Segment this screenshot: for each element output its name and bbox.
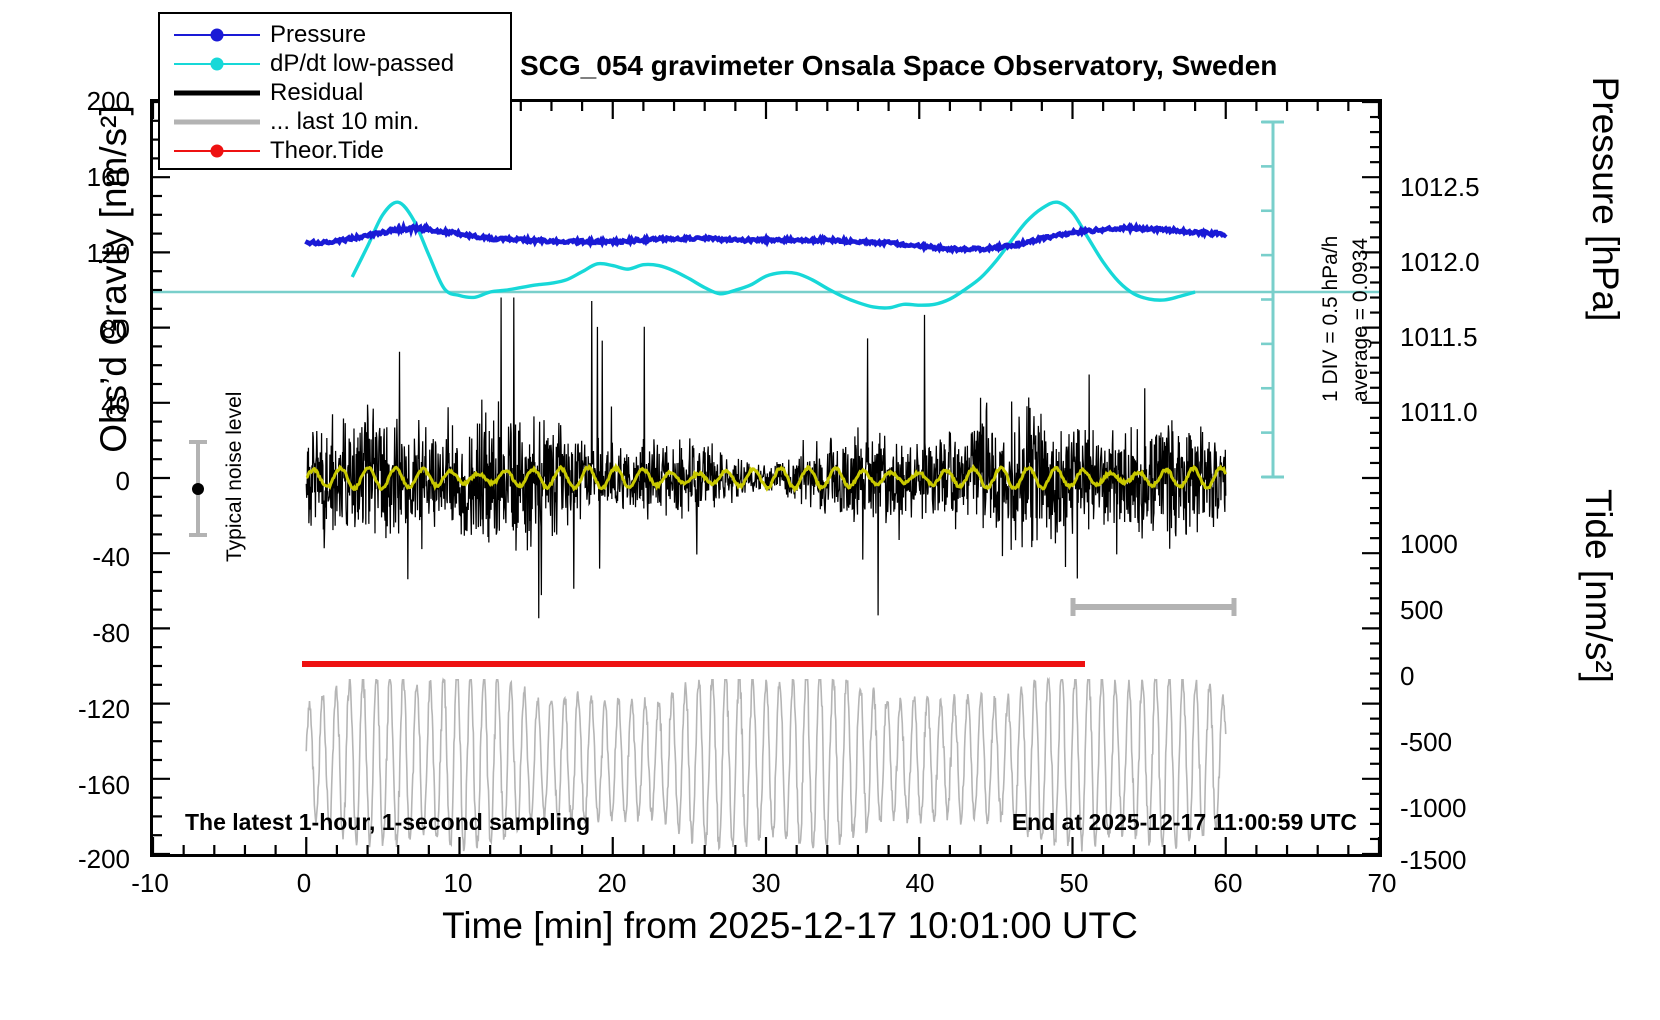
y-axis-right-pressure-label: Pressure [hPa] xyxy=(1584,34,1626,364)
chart-canvas: Obs’d Gravity [nm/s²] Pressure [hPa] Tid… xyxy=(0,0,1660,1020)
y-right-tide-tick-m1500: -1500 xyxy=(1400,845,1467,876)
y-right-pressure-tick-1012-0: 1012.0 xyxy=(1400,247,1480,278)
x-tick-40: 40 xyxy=(880,868,960,899)
legend: Pressure dP/dt low-passed Residual ... l… xyxy=(158,12,512,170)
legend-swatch-residual-icon xyxy=(174,83,260,103)
x-tick-60: 60 xyxy=(1188,868,1268,899)
annotation-dpdt-scale: 1 DIV = 0.5 hPa/h xyxy=(1319,236,1343,402)
y-axis-left-label: Obs’d Gravity [nm/s²] xyxy=(93,69,135,489)
y-left-tick-m120: -120 xyxy=(30,694,130,725)
x-tick-m10: -10 xyxy=(110,868,190,899)
legend-label-dpdt: dP/dt low-passed xyxy=(260,50,454,78)
x-tick-20: 20 xyxy=(572,868,652,899)
legend-item-residual[interactable]: Residual xyxy=(160,78,510,107)
annotation-noise-level: Typical noise level xyxy=(223,392,247,562)
legend-label-theor-tide: Theor.Tide xyxy=(260,137,384,165)
x-tick-10: 10 xyxy=(418,868,498,899)
residual-path xyxy=(306,298,1226,619)
legend-item-theor-tide[interactable]: Theor.Tide xyxy=(160,136,510,165)
y-right-tide-tick-m500: -500 xyxy=(1400,727,1452,758)
annotation-dpdt-average: average = 0.0934 xyxy=(1349,238,1373,402)
x-tick-0: 0 xyxy=(264,868,344,899)
y-right-tide-tick-0: 0 xyxy=(1400,661,1414,692)
legend-item-last10[interactable]: ... last 10 min. xyxy=(160,107,510,136)
y-left-tick-200: 200 xyxy=(30,86,130,117)
legend-item-pressure[interactable]: Pressure xyxy=(160,20,510,49)
y-left-tick-m40: -40 xyxy=(30,542,130,573)
y-left-tick-m80: -80 xyxy=(30,618,130,649)
y-left-tick-80: 80 xyxy=(30,314,130,345)
typical-noise-level-marker xyxy=(189,442,207,535)
plot-frame: The latest 1-hour, 1-second sampling End… xyxy=(150,99,1382,857)
y-right-tide-tick-m1000: -1000 xyxy=(1400,793,1467,824)
dpdt-scale-axis xyxy=(1261,122,1284,477)
y-right-tide-tick-500: 500 xyxy=(1400,595,1443,626)
x-tick-50: 50 xyxy=(1034,868,1114,899)
y-left-tick-0: 0 xyxy=(30,466,130,497)
y-right-pressure-tick-1011-5: 1011.5 xyxy=(1400,322,1478,353)
last-10-min-bar xyxy=(1073,598,1234,616)
legend-swatch-last10-icon xyxy=(174,112,260,132)
y-left-tick-40: 40 xyxy=(30,390,130,421)
y-axis-right-tide-label: Tide [nm/s²] xyxy=(1577,436,1619,736)
y-right-pressure-tick-1011-0: 1011.0 xyxy=(1400,397,1478,428)
y-right-pressure-tick-1012-5: 1012.5 xyxy=(1400,172,1480,203)
x-axis-label: Time [min] from 2025-12-17 10:01:00 UTC xyxy=(240,905,1340,947)
annotation-bottom-left: The latest 1-hour, 1-second sampling xyxy=(185,809,590,836)
plot-area xyxy=(153,102,1379,854)
x-tick-30: 30 xyxy=(726,868,806,899)
y-left-tick-120: 120 xyxy=(30,238,130,269)
legend-label-last10: ... last 10 min. xyxy=(260,108,419,136)
y-right-tide-tick-1000: 1000 xyxy=(1400,529,1458,560)
legend-label-pressure: Pressure xyxy=(260,21,366,49)
legend-swatch-theor-tide-icon xyxy=(174,141,260,161)
legend-item-dpdt[interactable]: dP/dt low-passed xyxy=(160,49,510,78)
plot-svg xyxy=(153,102,1379,854)
legend-swatch-pressure-icon xyxy=(174,25,260,45)
y-left-tick-160: 160 xyxy=(30,162,130,193)
legend-swatch-dpdt-icon xyxy=(174,54,260,74)
legend-label-residual: Residual xyxy=(260,79,363,107)
chart-title: SCG_054 gravimeter Onsala Space Observat… xyxy=(520,50,1277,82)
y-left-tick-m160: -160 xyxy=(30,770,130,801)
annotation-bottom-right: End at 2025-12-17 11:00:59 UTC xyxy=(1012,809,1357,836)
